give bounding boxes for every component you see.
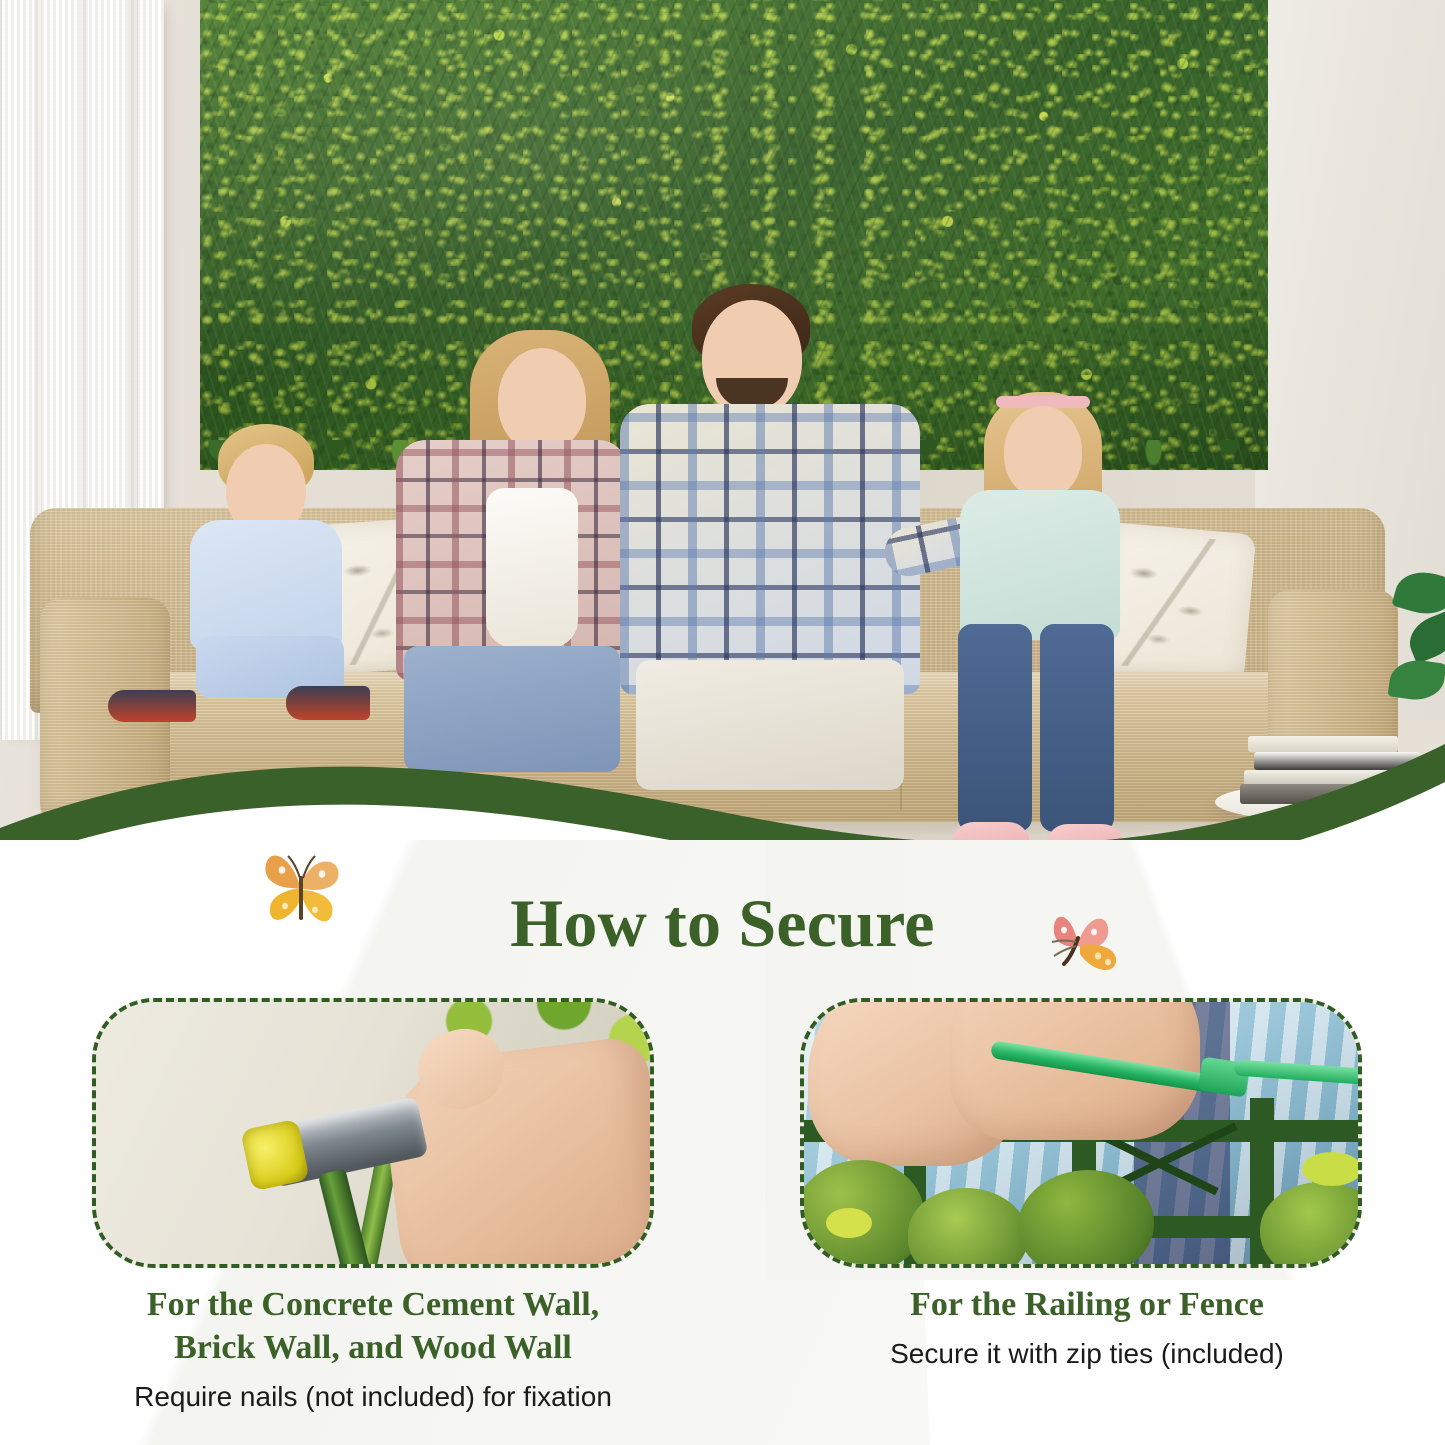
photo-hammer-nail (96, 1002, 650, 1264)
card-concrete-wall-method (92, 998, 654, 1268)
caption-subtext: Secure it with zip ties (included) (742, 1337, 1432, 1371)
caption-railing-fence: For the Railing or Fence Secure it with … (742, 1284, 1432, 1370)
man-plaid-shirt (620, 404, 920, 694)
card-railing-fence-method (800, 998, 1362, 1268)
photo-zip-tie (804, 1002, 1358, 1264)
caption-heading: For the Concrete Cement Wall, Brick Wall… (20, 1284, 726, 1370)
caption-heading: For the Railing or Fence (742, 1284, 1432, 1327)
woman-white-tee (486, 488, 578, 648)
girl-head (1004, 406, 1082, 498)
boy-shirt (190, 520, 342, 650)
caption-heading-line1: For the Railing or Fence (910, 1286, 1264, 1323)
caption-heading-line2: Brick Wall, and Wood Wall (174, 1329, 572, 1366)
girl-sweater (960, 490, 1120, 640)
caption-subtext: Require nails (not included) for fixatio… (20, 1380, 726, 1414)
woman-head (498, 348, 586, 452)
caption-concrete-wall: For the Concrete Cement Wall, Brick Wall… (20, 1284, 726, 1413)
page-title: How to Secure (0, 884, 1445, 963)
product-infographic: How to Secure (0, 0, 1445, 1445)
method-cards (0, 998, 1445, 1278)
caption-heading-line1: For the Concrete Cement Wall, (147, 1286, 599, 1323)
